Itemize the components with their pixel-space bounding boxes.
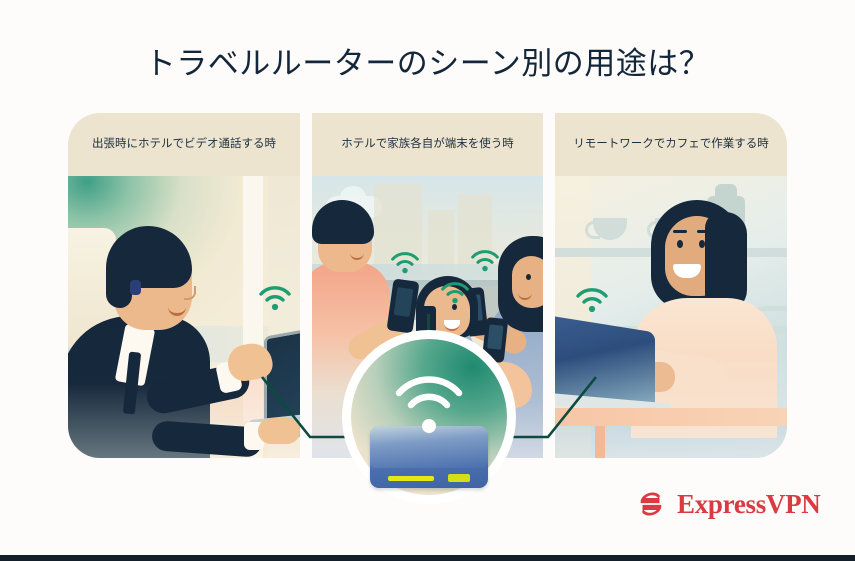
expressvpn-e-mark xyxy=(634,487,668,521)
panel-3-illustration xyxy=(555,176,787,458)
router-led-bar-short xyxy=(448,474,470,482)
expressvpn-logo[interactable]: ExpressVPN xyxy=(634,486,821,522)
wifi-icon xyxy=(470,250,500,273)
infographic-canvas: トラベルルーターのシーン別の用途は？ 出張時にホテルでビデオ通話する時 xyxy=(0,0,855,561)
wifi-icon xyxy=(394,376,464,424)
panel-3-desk-leg xyxy=(595,426,605,458)
router-device xyxy=(370,426,488,488)
panel-1-illustration xyxy=(68,176,300,458)
router-indicator-dot xyxy=(422,419,436,433)
panel-2-man-eye xyxy=(356,232,361,238)
travel-router-hub xyxy=(342,330,516,504)
bottom-bar xyxy=(0,555,855,561)
panel-3-woman-eye-right xyxy=(699,240,705,248)
wifi-icon xyxy=(258,286,292,312)
panel-2-woman-eye xyxy=(526,274,531,280)
panel-3-woman-brow-right xyxy=(697,230,711,233)
panel-2-caption: ホテルで家族各自が端末を使う時 xyxy=(312,113,543,176)
panel-1-man-sideburn xyxy=(106,262,132,308)
page-title: トラベルルーターのシーン別の用途は？ xyxy=(0,38,855,83)
scene-panel-1: 出張時にホテルでビデオ通話する時 xyxy=(68,113,300,458)
panel-1-man-eye xyxy=(172,274,179,283)
scene-panel-3: リモートワークでカフェで作業する時 xyxy=(555,113,787,458)
panel-3-woman-brow-left xyxy=(673,230,687,233)
panel-3-woman-eye-left xyxy=(677,240,683,248)
panel-1-man-hand-typing xyxy=(258,418,300,444)
panel-3-woman-hair-side xyxy=(705,212,747,312)
wifi-icon xyxy=(575,288,609,314)
panel-1-earbud xyxy=(130,280,141,295)
wifi-icon xyxy=(440,282,470,305)
router-led-bar-long xyxy=(388,476,434,481)
panel-1-caption: 出張時にホテルでビデオ通話する時 xyxy=(68,113,300,176)
wifi-icon xyxy=(390,252,420,275)
panel-2-woman-face xyxy=(512,256,543,308)
expressvpn-wordmark: ExpressVPN xyxy=(677,489,821,520)
panel-3-desk xyxy=(555,408,787,426)
panel-3-caption: リモートワークでカフェで作業する時 xyxy=(555,113,787,176)
